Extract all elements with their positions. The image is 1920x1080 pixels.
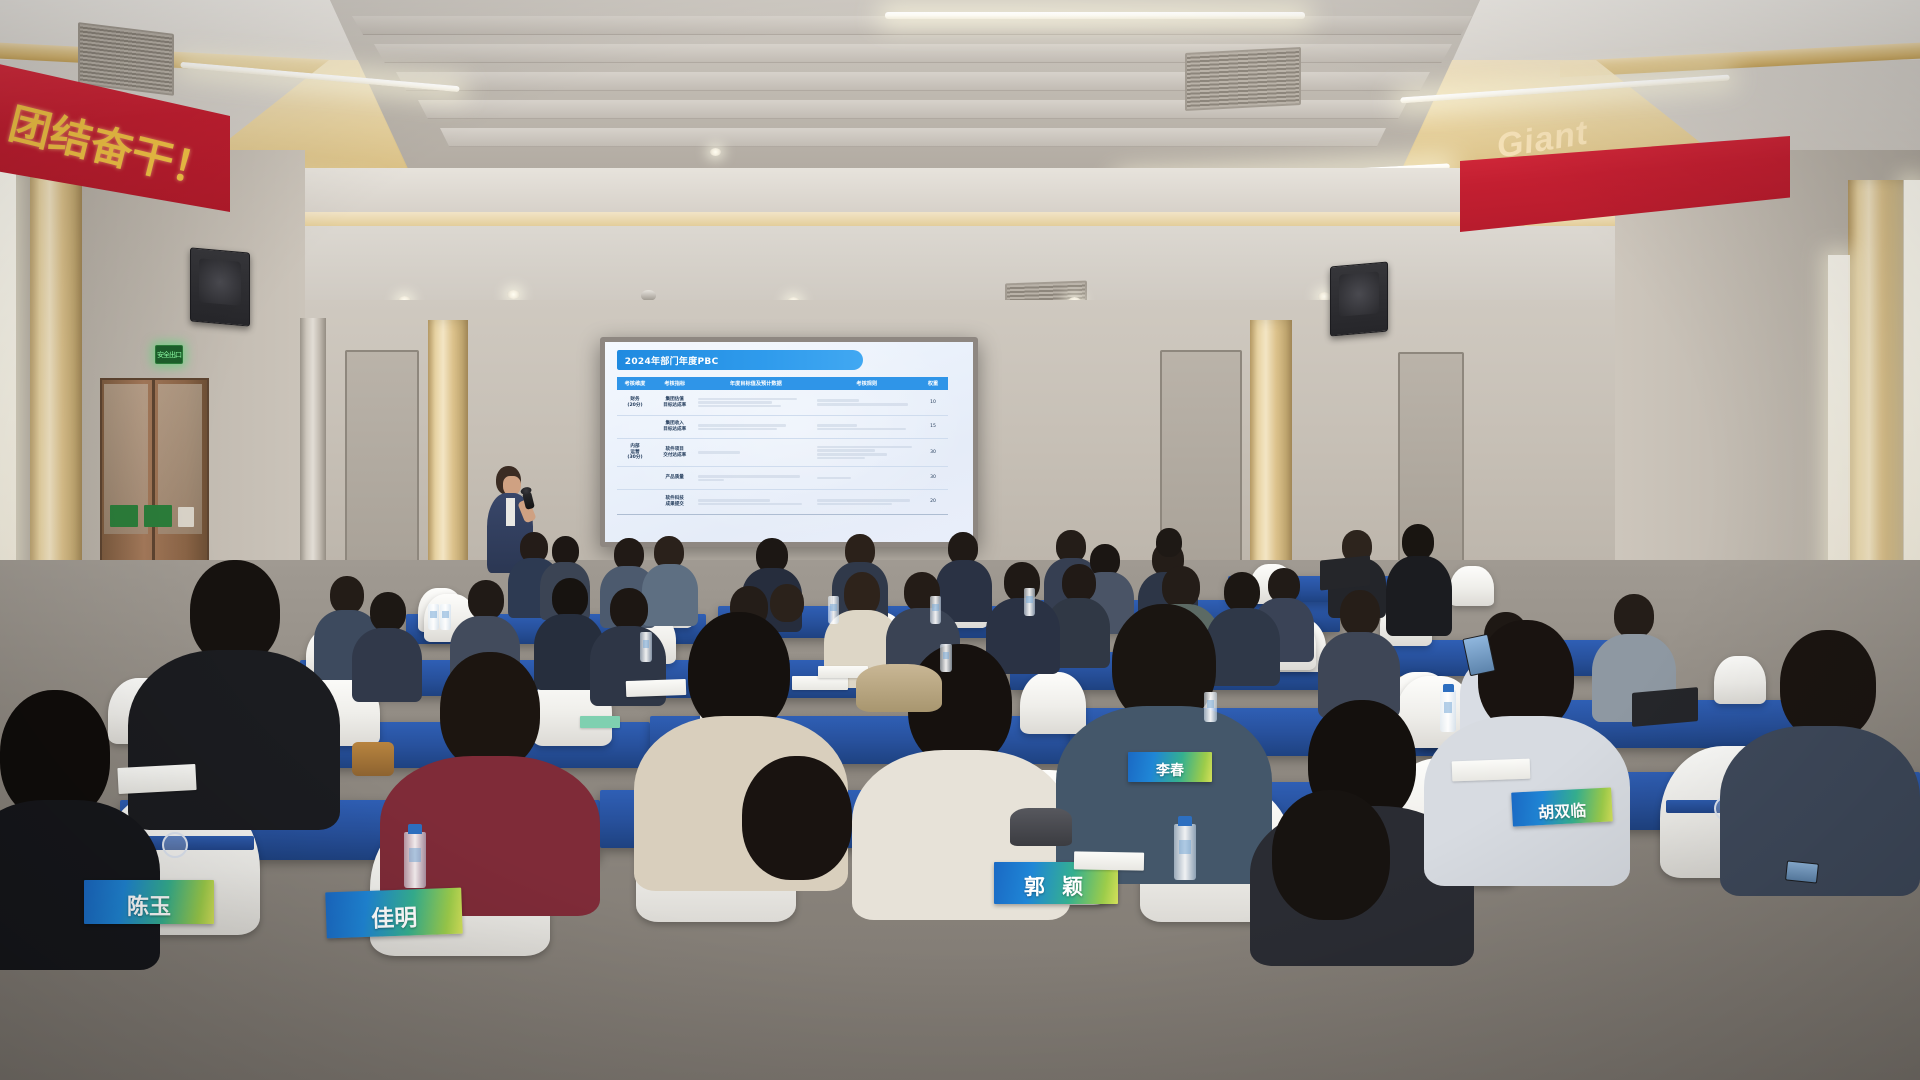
- downlight: [507, 290, 520, 299]
- document-paper[interactable]: [117, 764, 196, 794]
- col-header-rule: 考核规则: [815, 380, 918, 387]
- cell-dimension: [617, 477, 653, 479]
- bottle-cap: [408, 824, 422, 834]
- ac-vent-right: [1185, 47, 1301, 111]
- cell-weight: 30: [918, 474, 948, 482]
- slide-table-header: 考核维度 考核指标 年度目标值及预计数据 考核规则 权重: [617, 377, 948, 390]
- cell-rule: [815, 397, 918, 407]
- cell-indicator: 软件科技 成果提交: [653, 495, 696, 508]
- sticky-note[interactable]: [580, 716, 620, 728]
- cell-indicator: 集团估值 目标达成率: [653, 396, 696, 409]
- water-bottle[interactable]: [640, 632, 652, 662]
- document-paper[interactable]: [1074, 851, 1144, 870]
- cell-target: [696, 396, 815, 410]
- led-strip: [885, 12, 1305, 19]
- water-bottle[interactable]: [1024, 588, 1035, 616]
- exit-sign-label: 安全出口: [157, 350, 181, 360]
- laptop[interactable]: [1632, 687, 1698, 727]
- door-signage-green: [144, 505, 172, 527]
- col-header-dimension: 考核维度: [617, 380, 653, 387]
- bottle-cap: [1443, 684, 1454, 692]
- cell-target: [696, 422, 815, 432]
- ac-vent-left: [78, 22, 174, 96]
- cell-dimension: [617, 426, 653, 428]
- water-bottle[interactable]: [828, 596, 839, 624]
- cell-target: [696, 473, 815, 483]
- cell-rule: [815, 497, 918, 507]
- bottle-cap: [1178, 816, 1192, 826]
- water-bottle[interactable]: [428, 604, 439, 630]
- slide-table: 考核维度 考核指标 年度目标值及预计数据 考核规则 权重 财务 (20分) 集团…: [617, 377, 948, 515]
- cell-indicator: 产品质量: [653, 474, 696, 482]
- cell-indicator: 集团收入 目标达成率: [653, 420, 696, 433]
- cell-weight: 20: [918, 498, 948, 506]
- smartphone[interactable]: [1785, 860, 1819, 883]
- document-paper[interactable]: [1452, 759, 1531, 782]
- downlight: [710, 148, 721, 156]
- name-placard-label: 李春: [1156, 760, 1184, 780]
- presentation-slide: 2024年部门年度PBC 考核维度 考核指标 年度目标值及预计数据 考核规则 权…: [605, 342, 973, 542]
- speaker-right: [1330, 261, 1388, 336]
- exit-sign: 安全出口: [155, 345, 183, 364]
- door-signage-plate: [178, 507, 194, 527]
- name-placard: 佳明: [325, 888, 463, 939]
- door-signage-green: [110, 505, 138, 527]
- conference-room-photo: 安全出口 团结奋干！ Giant 2024年部门年度PBC 考核维度 考核指标 …: [0, 0, 1920, 1080]
- name-placard-label: 佳明: [371, 898, 418, 934]
- water-bottle[interactable]: [1174, 824, 1196, 880]
- table-row: 内部 运营 (30分) 软件项目 交付达成率 30: [617, 439, 948, 467]
- col-header-indicator: 考核指标: [653, 380, 696, 387]
- ceiling-slat: [440, 128, 1386, 147]
- document-paper[interactable]: [626, 679, 687, 697]
- slide-title: 2024年部门年度PBC: [625, 354, 719, 367]
- cell-rule: [815, 475, 918, 482]
- name-placard-label: 胡双临: [1538, 797, 1587, 823]
- cell-dimension: 内部 运营 (30分): [617, 443, 653, 462]
- water-bottle[interactable]: [930, 596, 941, 624]
- speaker-left: [190, 247, 250, 326]
- cell-target: [696, 449, 815, 456]
- cell-rule: [815, 444, 918, 461]
- chair[interactable]: [1714, 656, 1766, 704]
- chair-buckle: [162, 832, 188, 858]
- cell-target: [696, 497, 815, 507]
- document-paper[interactable]: [792, 676, 848, 690]
- laptop[interactable]: [1320, 555, 1370, 590]
- backpack: [1010, 808, 1072, 846]
- cell-weight: 15: [918, 423, 948, 431]
- slide-title-bar: 2024年部门年度PBC: [617, 350, 864, 370]
- handbag: [352, 742, 394, 776]
- water-bottle[interactable]: [404, 832, 426, 888]
- chair[interactable]: [1450, 566, 1494, 606]
- name-placard: 陈玉: [84, 880, 214, 924]
- name-placard: 李春: [1128, 752, 1212, 782]
- chair[interactable]: [1020, 672, 1086, 734]
- presenter-shirt: [506, 498, 515, 526]
- name-placard-label: 郭 颖: [1024, 871, 1088, 901]
- cell-dimension: 财务 (20分): [617, 396, 653, 409]
- table-row: 财务 (20分) 集团估值 目标达成率 10: [617, 390, 948, 416]
- table-row: 软件科技 成果提交 20: [617, 490, 948, 515]
- water-bottle[interactable]: [1440, 690, 1456, 732]
- handbag: [856, 664, 942, 712]
- table-row: 集团收入 目标达成率 15: [617, 416, 948, 439]
- cell-dimension: [617, 501, 653, 503]
- name-placard-label: 陈玉: [127, 889, 171, 921]
- name-placard: 胡双临: [1511, 787, 1613, 826]
- cell-weight: 30: [918, 449, 948, 457]
- water-bottle[interactable]: [940, 644, 952, 672]
- water-bottle[interactable]: [440, 604, 451, 630]
- projection-screen: 2024年部门年度PBC 考核维度 考核指标 年度目标值及预计数据 考核规则 权…: [600, 337, 978, 547]
- col-header-target: 年度目标值及预计数据: [696, 380, 815, 387]
- cell-weight: 10: [918, 399, 948, 407]
- cell-indicator: 软件项目 交付达成率: [653, 446, 696, 459]
- col-header-weight: 权重: [918, 380, 948, 387]
- water-bottle[interactable]: [1204, 692, 1217, 722]
- table-row: 产品质量 30: [617, 467, 948, 490]
- cell-rule: [815, 422, 918, 432]
